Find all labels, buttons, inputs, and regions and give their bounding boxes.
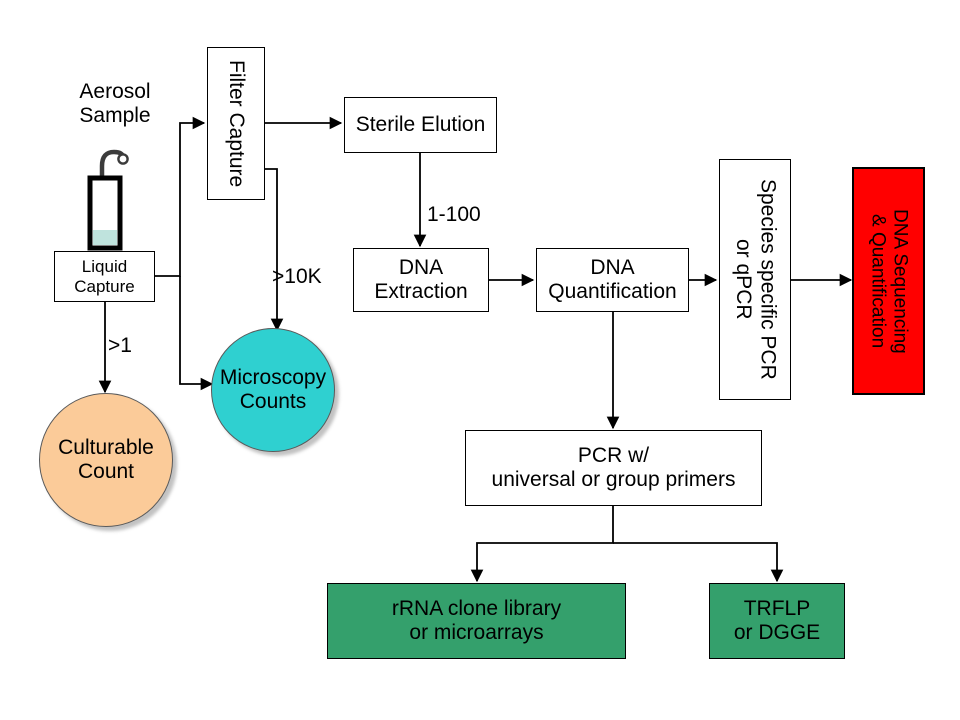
node-trflp-dgge[interactable]: TRFLP or DGGE (709, 583, 845, 659)
node-pcr-universal-primers[interactable]: PCR w/ universal or group primers (465, 430, 762, 506)
edge-pcr-to-rrna (477, 506, 613, 581)
node-dna-extraction[interactable]: DNA Extraction (353, 248, 489, 312)
edge-label-gt-10k: >10K (272, 265, 322, 289)
node-dna-quantification[interactable]: DNA Quantification (536, 248, 689, 312)
edge-liquid-to-filter (154, 123, 204, 276)
node-rrna-clone-library[interactable]: rRNA clone library or microarrays (327, 583, 626, 659)
aerosol-sampler-icon (78, 140, 138, 252)
node-sterile-elution[interactable]: Sterile Elution (344, 97, 497, 153)
edge-label-gt-1: >1 (108, 334, 132, 358)
flowchart-canvas: Aerosol Sample Liquid Capture Filter Cap… (0, 0, 960, 720)
edge-filter-to-microscopy (265, 169, 277, 330)
edge-liquid-to-microscopy (180, 276, 212, 384)
node-dna-sequencing-quantification[interactable]: DNA Sequencing & Quantification (852, 167, 925, 395)
node-species-specific-pcr[interactable]: Species specific PCR or qPCR (719, 159, 791, 400)
circle-culturable-count[interactable]: Culturable Count (39, 393, 173, 527)
aerosol-sample-label: Aerosol Sample (55, 80, 175, 129)
node-liquid-capture[interactable]: Liquid Capture (54, 251, 155, 302)
circle-microscopy-counts[interactable]: Microscopy Counts (211, 328, 335, 452)
edge-pcr-to-trflp (613, 543, 777, 581)
edge-label-1-100: 1-100 (427, 203, 481, 227)
node-filter-capture[interactable]: Filter Capture (207, 47, 265, 200)
